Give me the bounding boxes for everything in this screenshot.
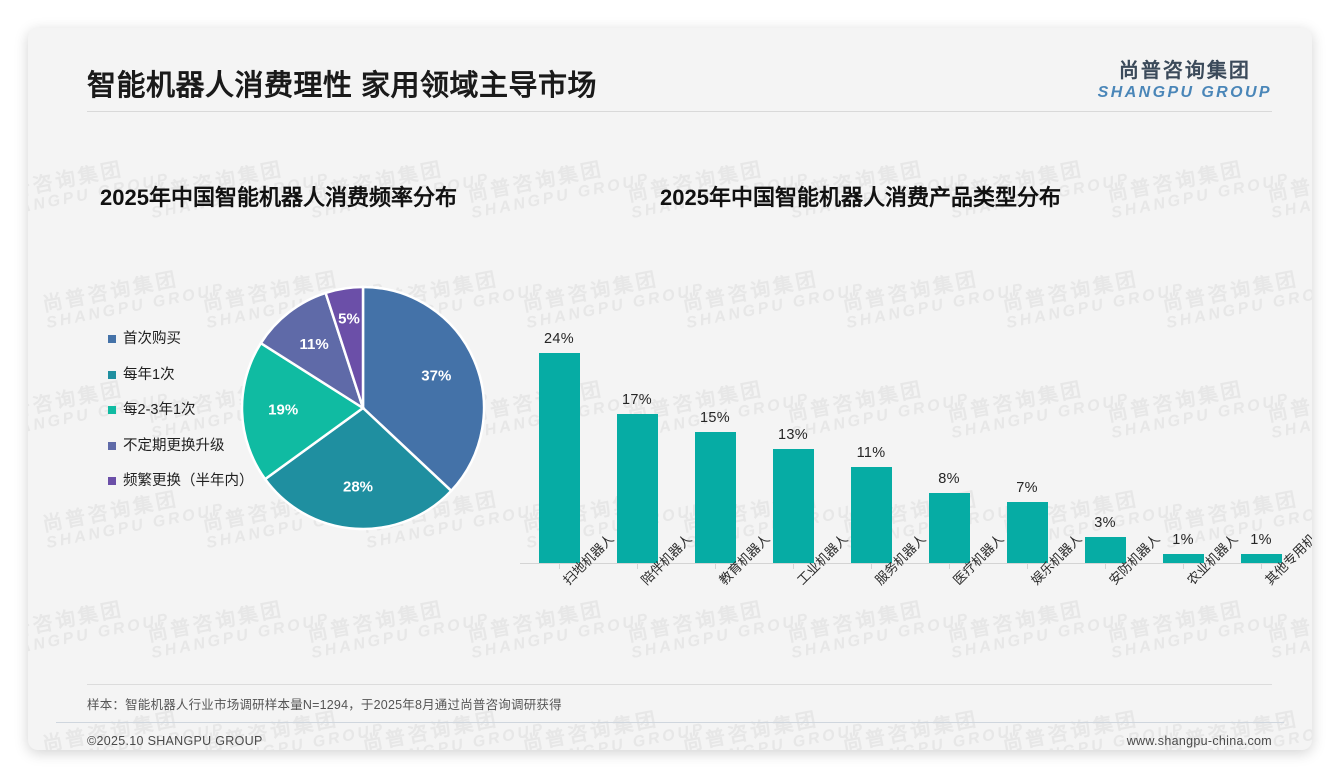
pie-legend-label: 每2-3年1次 [123, 401, 248, 421]
legend-swatch-icon [108, 477, 116, 485]
pie-legend-item[interactable]: 每年1次 [108, 366, 248, 386]
pie-svg: 37%28%19%11%5% [233, 258, 493, 558]
bar-category-label: 安防机器人 [1066, 569, 1144, 673]
bar-category-label: 其他专用机... [1222, 569, 1300, 673]
slide-canvas: 尚普咨询集团SHANGPU GROUP尚普咨询集团SHANGPU GROUP尚普… [28, 28, 1312, 750]
bar-rect[interactable] [539, 353, 580, 564]
footer-copyright: ©2025.10 SHANGPU GROUP [87, 734, 263, 748]
bar-chart-title: 2025年中国智能机器人消费产品类型分布 [660, 180, 1061, 212]
pie-chart-title: 2025年中国智能机器人消费频率分布 [100, 180, 457, 212]
bar-category-label: 陪伴机器人 [598, 569, 676, 673]
bar-axis-tick [715, 563, 716, 569]
bar-rect[interactable] [1085, 537, 1126, 563]
bar-rect[interactable] [1163, 554, 1204, 563]
bar-axis-tick [871, 563, 872, 569]
bar-column[interactable]: 1% [1144, 532, 1222, 563]
bar-value-label: 17% [598, 392, 676, 408]
pie-slice-label: 19% [268, 401, 298, 418]
watermark-text: 尚普咨询集团SHANGPU GROUP [681, 701, 867, 750]
bar-rect[interactable] [617, 414, 658, 563]
bar-axis-tick [637, 563, 638, 569]
bar-category-label: 服务机器人 [832, 569, 910, 673]
bar-column[interactable]: 13% [754, 427, 832, 563]
bar-chart: 24%扫地机器人17%陪伴机器人15%教育机器人13%工业机器人11%服务机器人… [498, 283, 1298, 673]
pie-legend-label: 每年1次 [123, 366, 248, 386]
bar-rect[interactable] [1007, 502, 1048, 563]
pie-legend-item[interactable]: 首次购买 [108, 330, 248, 350]
bar-value-label: 8% [910, 471, 988, 487]
pie-slice-label: 5% [338, 311, 360, 328]
bar-rect[interactable] [695, 432, 736, 564]
pie-legend-item[interactable]: 频繁更换（半年内） [108, 472, 248, 492]
pie-slice-label: 28% [343, 479, 373, 496]
bar-axis-line [520, 563, 1288, 564]
bar-axis-tick [1105, 563, 1106, 569]
pie-slice-label: 37% [421, 367, 451, 384]
pie-legend-item[interactable]: 不定期更换升级 [108, 437, 248, 457]
pie-slice-label: 11% [299, 336, 328, 353]
watermark-text: 尚普咨询集团SHANGPU GROUP [28, 591, 172, 663]
legend-swatch-icon [108, 335, 116, 343]
bar-value-label: 7% [988, 480, 1066, 496]
bar-column[interactable]: 11% [832, 445, 910, 564]
bar-axis-tick [1261, 563, 1262, 569]
note-divider [87, 684, 1272, 685]
bar-value-label: 1% [1144, 532, 1222, 548]
watermark-text: 尚普咨询集团SHANGPU GROUP [146, 591, 332, 663]
bar-axis-tick [559, 563, 560, 569]
brand-logo: 尚普咨询集团 SHANGPU GROUP [1098, 60, 1272, 102]
bar-rect[interactable] [851, 467, 892, 564]
bar-category-label: 农业机器人 [1144, 569, 1222, 673]
header-divider [87, 111, 1272, 112]
pie-legend-label: 频繁更换（半年内） [123, 472, 248, 492]
bar-column[interactable]: 15% [676, 410, 754, 564]
bar-column[interactable]: 24% [520, 331, 598, 564]
pie-legend-label: 不定期更换升级 [123, 437, 248, 457]
bar-value-label: 24% [520, 331, 598, 347]
bar-axis-tick [949, 563, 950, 569]
bar-category-label: 医疗机器人 [910, 569, 988, 673]
footer-divider [56, 722, 1284, 723]
bar-value-label: 1% [1222, 532, 1300, 548]
watermark-text: 尚普咨询集团SHANGPU GROUP [841, 701, 1027, 750]
bar-category-label: 娱乐机器人 [988, 569, 1066, 673]
watermark-text: 尚普咨询集团SHANGPU GROUP [306, 591, 492, 663]
footer-website[interactable]: www.shangpu-china.com [1127, 734, 1272, 748]
bar-category-label: 扫地机器人 [520, 569, 598, 673]
bar-axis-tick [1027, 563, 1028, 569]
bar-column[interactable]: 7% [988, 480, 1066, 563]
legend-swatch-icon [108, 406, 116, 414]
sample-note: 样本：智能机器人行业市场调研样本量N=1294，于2025年8月通过尚普咨询调研… [87, 694, 562, 713]
bar-rect[interactable] [929, 493, 970, 563]
watermark-text: 尚普咨询集团SHANGPU GROUP [466, 151, 652, 223]
pie-legend-label: 首次购买 [123, 330, 248, 350]
pie-legend: 首次购买每年1次每2-3年1次不定期更换升级频繁更换（半年内） [108, 330, 248, 508]
logo-chinese: 尚普咨询集团 [1098, 60, 1272, 83]
slide-header: 智能机器人消费理性 家用领域主导市场 尚普咨询集团 SHANGPU GROUP [28, 28, 1312, 124]
bar-value-label: 15% [676, 410, 754, 426]
bar-axis-tick [1183, 563, 1184, 569]
bar-value-label: 11% [832, 445, 910, 461]
logo-english: SHANGPU GROUP [1098, 83, 1272, 102]
page-title: 智能机器人消费理性 家用领域主导市场 [87, 62, 597, 104]
bar-column[interactable]: 1% [1222, 532, 1300, 563]
bar-axis-tick [793, 563, 794, 569]
bar-column[interactable]: 17% [598, 392, 676, 563]
pie-legend-item[interactable]: 每2-3年1次 [108, 401, 248, 421]
bar-column[interactable]: 8% [910, 471, 988, 563]
bar-rect[interactable] [773, 449, 814, 563]
watermark-text: 尚普咨询集团SHANGPU GROUP [1106, 151, 1292, 223]
legend-swatch-icon [108, 371, 116, 379]
pie-chart: 首次购买每年1次每2-3年1次不定期更换升级频繁更换（半年内） 37%28%19… [78, 258, 548, 598]
bar-rect[interactable] [1241, 554, 1282, 563]
bar-value-label: 13% [754, 427, 832, 443]
bar-category-label: 教育机器人 [676, 569, 754, 673]
bar-column[interactable]: 3% [1066, 515, 1144, 563]
legend-swatch-icon [108, 442, 116, 450]
bar-category-label: 工业机器人 [754, 569, 832, 673]
bar-value-label: 3% [1066, 515, 1144, 531]
watermark-text: 尚普咨询集团SHANGPU GROUP [1266, 151, 1312, 223]
